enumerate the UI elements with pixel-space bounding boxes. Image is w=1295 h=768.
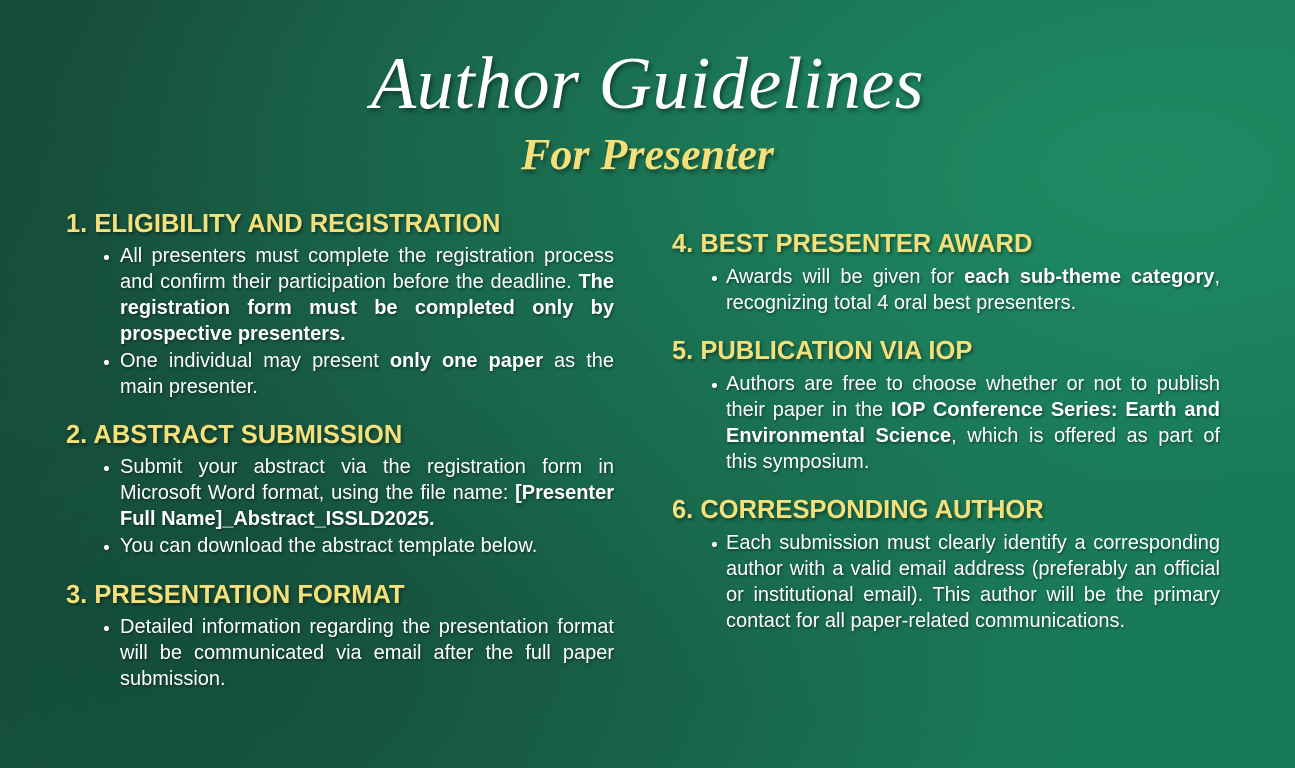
emphasis-text: only one paper xyxy=(390,350,543,372)
title-block: Author Guidelines For Presenter xyxy=(0,42,1295,180)
bullet-list: Authors are free to choose whether or no… xyxy=(672,371,1220,475)
body-text: Awards will be given for xyxy=(726,266,964,288)
section-heading: 4. BEST PRESENTER AWARD xyxy=(672,228,1220,260)
list-item: Awards will be given for each sub-theme … xyxy=(672,264,1220,316)
right-column: 4. BEST PRESENTER AWARD Awards will be g… xyxy=(672,208,1220,635)
section-abstract-submission: 2. ABSTRACT SUBMISSION Submit your abstr… xyxy=(66,419,614,559)
section-heading: 1. ELIGIBILITY AND REGISTRATION xyxy=(66,208,614,240)
left-column: 1. ELIGIBILITY AND REGISTRATION All pres… xyxy=(66,208,614,693)
body-text: Each submission must clearly identify a … xyxy=(726,532,1220,632)
section-publication-via-iop: 5. PUBLICATION VIA IOP Authors are free … xyxy=(672,335,1220,475)
body-text: One individual may present xyxy=(120,350,390,372)
body-text: Detailed information regarding the prese… xyxy=(120,616,614,690)
section-eligibility-and-registration: 1. ELIGIBILITY AND REGISTRATION All pres… xyxy=(66,208,614,400)
section-presentation-format: 3. PRESENTATION FORMAT Detailed informat… xyxy=(66,579,614,692)
list-item: All presenters must complete the registr… xyxy=(66,243,614,347)
list-item: Authors are free to choose whether or no… xyxy=(672,371,1220,475)
bullet-list: All presenters must complete the registr… xyxy=(66,243,614,400)
section-best-presenter-award: 4. BEST PRESENTER AWARD Awards will be g… xyxy=(672,228,1220,316)
section-corresponding-author: 6. CORRESPONDING AUTHOR Each submission … xyxy=(672,494,1220,634)
list-item: You can download the abstract template b… xyxy=(66,533,614,559)
slide-root: Author Guidelines For Presenter 1. ELIGI… xyxy=(0,0,1295,768)
section-heading: 3. PRESENTATION FORMAT xyxy=(66,579,614,611)
content-columns: 1. ELIGIBILITY AND REGISTRATION All pres… xyxy=(0,208,1295,753)
section-heading: 2. ABSTRACT SUBMISSION xyxy=(66,419,614,451)
bullet-list: Awards will be given for each sub-theme … xyxy=(672,264,1220,316)
body-text: All presenters must complete the registr… xyxy=(120,245,614,293)
section-heading: 6. CORRESPONDING AUTHOR xyxy=(672,494,1220,526)
bullet-list: Each submission must clearly identify a … xyxy=(672,530,1220,634)
bullet-list: Detailed information regarding the prese… xyxy=(66,614,614,692)
list-item: One individual may present only one pape… xyxy=(66,348,614,400)
page-title: Author Guidelines xyxy=(0,42,1295,126)
emphasis-text: each sub-theme category xyxy=(964,266,1214,288)
body-text: You can download the abstract template b… xyxy=(120,535,537,557)
list-item: Detailed information regarding the prese… xyxy=(66,614,614,692)
page-subtitle: For Presenter xyxy=(0,130,1295,180)
list-item: Each submission must clearly identify a … xyxy=(672,530,1220,634)
bullet-list: Submit your abstract via the registratio… xyxy=(66,454,614,559)
list-item: Submit your abstract via the registratio… xyxy=(66,454,614,532)
section-heading: 5. PUBLICATION VIA IOP xyxy=(672,335,1220,367)
